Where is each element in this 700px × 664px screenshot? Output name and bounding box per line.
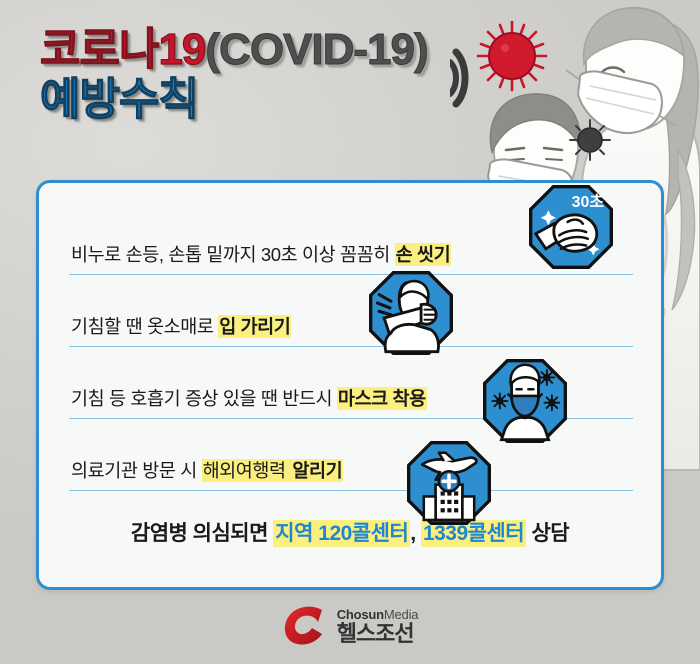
- chosun-media-c-logo: [282, 606, 328, 646]
- cough-into-sleeve-icon: [369, 271, 453, 355]
- poster-title: 코로나19(COVID-19) 예방수칙: [40, 28, 428, 122]
- tip-text-1: 비누로 손등, 손톱 밑까지 30초 이상 꼼꼼히 손 씻기: [71, 241, 451, 267]
- tips-list: 비누로 손등, 손톱 밑까지 30초 이상 꼼꼼히 손 씻기 기침할 땐 옷소매…: [39, 183, 661, 587]
- cta-prefix: 감염병 의심되면: [131, 522, 273, 545]
- tip-1-highlight: 손 씻기: [395, 243, 452, 266]
- cta-separator: ,: [410, 522, 421, 545]
- face-mask-icon: [483, 359, 567, 443]
- tip-row-cough-sleeve: 기침할 땐 옷소매로 입 가리기: [39, 281, 661, 353]
- hospital-airplane-icon: [407, 441, 491, 525]
- call-center-cta: 감염병 의심되면 지역 120콜센터, 1339콜센터 상담: [39, 517, 661, 547]
- title-line-2: 예방수칙: [40, 78, 428, 122]
- footer-brand-media: Media: [384, 607, 418, 622]
- footer-brand-ko: 헬스조선: [337, 623, 419, 645]
- footer-brand-en: ChosunMedia: [337, 608, 419, 621]
- tip-3-highlight: 마스크 착용: [337, 387, 427, 410]
- tip-divider-1: [69, 274, 633, 275]
- tip-1-plain: 비누로 손등, 손톱 밑까지 30초 이상 꼼꼼히: [71, 244, 395, 265]
- tip-2-highlight: 입 가리기: [218, 315, 291, 338]
- tip-divider-4: [69, 490, 633, 491]
- hand-washing-icon: 30초: [529, 185, 613, 269]
- tip-text-4: 의료기관 방문 시 해외여행력 알리기: [71, 457, 343, 483]
- cta-suffix: 상담: [526, 522, 569, 545]
- hand-washing-duration-label: 30초: [572, 193, 605, 211]
- tip-divider-2: [69, 346, 633, 347]
- cta-number-1: 지역 120콜센터: [273, 520, 410, 547]
- tip-text-3: 기침 등 호흡기 증상 있을 땐 반드시 마스크 착용: [71, 385, 427, 411]
- tip-row-wear-mask: 기침 등 호흡기 증상 있을 땐 반드시 마스크 착용: [39, 353, 661, 425]
- tip-2-plain: 기침할 땐 옷소매로: [71, 316, 218, 337]
- footer-brand-text: ChosunMedia 헬스조선: [337, 608, 419, 645]
- prevention-card: 비누로 손등, 손톱 밑까지 30초 이상 꼼꼼히 손 씻기 기침할 땐 옷소매…: [36, 180, 664, 590]
- tip-4-highlight-light: 해외여행력: [202, 459, 292, 482]
- title-korona: 코로나19: [40, 25, 205, 74]
- footer-brand-chosun: Chosun: [337, 607, 384, 622]
- tip-row-travel-history: 의료기관 방문 시 해외여행력 알리기: [39, 425, 661, 497]
- tip-4-plain: 의료기관 방문 시: [71, 460, 202, 481]
- title-covid: (COVID-19): [205, 25, 427, 74]
- footer-logo: ChosunMedia 헬스조선: [0, 602, 700, 650]
- poster-root: 코로나19(COVID-19) 예방수칙 비누로 손등, 손톱 밑까지 30초 …: [0, 0, 700, 664]
- tip-text-2: 기침할 땐 옷소매로 입 가리기: [71, 313, 291, 339]
- title-line-1: 코로나19(COVID-19): [40, 28, 428, 72]
- tip-4-highlight: 알리기: [291, 459, 343, 482]
- title-prevention-rules: 예방수칙: [40, 75, 198, 124]
- tip-3-plain: 기침 등 호흡기 증상 있을 땐 반드시: [71, 388, 337, 409]
